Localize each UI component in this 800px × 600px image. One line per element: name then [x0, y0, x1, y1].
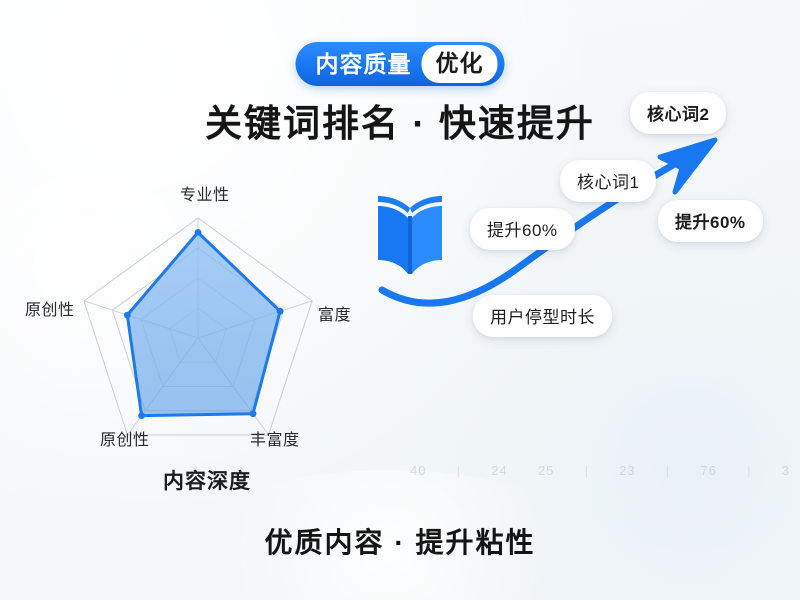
pill-uplift-right[interactable]: 提升60%: [658, 200, 763, 242]
axis-tick-mark: |: [747, 463, 751, 478]
radar-label-top: 专业性: [180, 181, 230, 205]
axis-tick: 76: [700, 463, 716, 478]
axis-tick: 25: [538, 463, 554, 478]
open-book-icon: [372, 188, 448, 278]
axis-tick-mark: |: [585, 463, 589, 478]
poster-canvas: 内容质量 优化 关键词排名 · 快速提升: [0, 0, 800, 600]
page-title: 关键词排名 · 快速提升: [205, 93, 595, 147]
radar-label-bottom-left: 原创性: [100, 426, 150, 450]
radar-series-polygon: [127, 232, 280, 415]
pill-dwell-time[interactable]: 用户停型时长: [473, 295, 612, 337]
badge-chip-label: 优化: [422, 45, 498, 83]
radar-label-bottom-right: 丰富度: [250, 426, 300, 450]
axis-tick: 3: [782, 463, 790, 478]
axis-tick: 24: [491, 463, 507, 478]
footer-tagline: 优质内容 · 提升粘性: [265, 521, 536, 561]
radar-chart: 专业性 富度 丰富度 原创性 原创性: [28, 188, 368, 468]
axis-tick: 40: [410, 463, 426, 478]
badge-main-label: 内容质量: [316, 53, 422, 76]
axis-tick: 23: [619, 463, 635, 478]
radar-label-right: 富度: [318, 301, 351, 325]
axis-tick-row: 40 | 24 25 | 23 | 76 | 3: [410, 463, 790, 478]
caption-content-depth: 内容深度: [163, 465, 251, 495]
pill-core-keyword-2[interactable]: 核心词2: [630, 92, 726, 134]
radar-chart-svg: [28, 188, 368, 468]
axis-tick-mark: |: [457, 463, 461, 478]
quality-badge[interactable]: 内容质量 优化: [296, 42, 505, 86]
pill-uplift-left[interactable]: 提升60%: [470, 208, 575, 250]
radar-label-left: 原创性: [25, 296, 75, 320]
axis-tick-mark: |: [666, 463, 670, 478]
pill-core-keyword-1[interactable]: 核心词1: [560, 160, 656, 202]
background-blotch: [520, 330, 800, 590]
